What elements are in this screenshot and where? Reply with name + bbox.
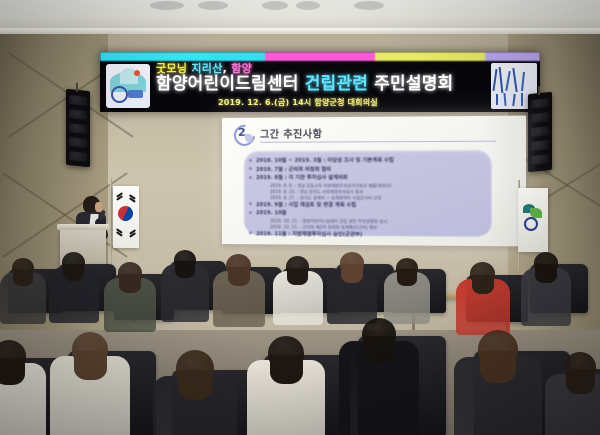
audience-head: [0, 340, 26, 372]
line-array-speaker-left: [66, 89, 90, 168]
banner-line-3: 2019. 12. 6.(금) 14시 함양군청 대회의실: [218, 97, 378, 108]
audience-head: [226, 254, 251, 277]
slide-bullet-item: 2019. 10월: [256, 209, 286, 216]
led-decorative-strip: [100, 52, 540, 61]
audience-head: [564, 352, 596, 382]
speaker-mount-rod: [76, 83, 78, 92]
slide-content-box: 2018. 10월 ~ 2019. 3월 : 타당성 조사 및 기본계획 수립2…: [244, 150, 492, 237]
audience-head: [340, 252, 364, 274]
led-segment: [155, 52, 210, 61]
audience-head: [470, 262, 495, 285]
slide-title-rule: [260, 141, 496, 143]
speaker-mount-rod: [538, 86, 540, 95]
slide-bullet-marker: [249, 211, 252, 214]
led-segment: [320, 52, 375, 61]
audience-head: [286, 256, 309, 277]
audience-head: [118, 262, 142, 284]
south-korea-flag: [113, 186, 139, 248]
county-flag: [518, 188, 548, 252]
slide-title: 그간 추진사항: [260, 125, 322, 140]
audience-head: [478, 330, 518, 368]
audience-head: [396, 258, 418, 278]
projection-screen: 2 그간 추진사항 2018. 10월 ~ 2019. 3월 : 타당성 조사 …: [222, 116, 526, 247]
slide-bullet-marker: [249, 167, 252, 170]
audience-head: [72, 332, 108, 366]
audience-head: [174, 250, 196, 270]
ceiling-light-fixture: [198, 1, 228, 10]
lectern-top: [57, 224, 109, 230]
slide-bullet-item: 2019. 7월 : 군의회 의정회 협의: [256, 165, 331, 172]
audience-head: [268, 336, 304, 370]
led-segment: [485, 52, 540, 61]
slide-number-icon: 2: [234, 125, 254, 143]
slide-bullet-marker: [249, 158, 252, 161]
banner-line-2: 함양어린이드림센터 건립관련 주민설명회: [156, 75, 453, 94]
slide-bullet-marker: [249, 231, 252, 234]
ceiling-light-fixture: [262, 1, 288, 10]
ceiling-light-fixture: [296, 1, 320, 10]
banner-text-run: 주민설명회: [368, 74, 453, 94]
line-array-speaker-right: [528, 92, 552, 173]
audience-head: [62, 252, 85, 273]
led-segment: [430, 52, 485, 61]
slide-bullet-marker: [249, 175, 252, 178]
led-segment: [375, 52, 430, 61]
banner-text-run: 건립관련: [305, 74, 368, 94]
audience-head: [12, 258, 34, 278]
flag-pole-left: [110, 178, 112, 270]
county-emblem: [523, 204, 543, 228]
led-banner: 굿모닝 지리산, 함양 함양어린이드림센터 건립관련 주민설명회 2019. 1…: [100, 52, 540, 112]
audience-head: [362, 318, 396, 350]
slide-bullet-item: 2019. 11월 : 지방재정투자심사 승인(군관부): [256, 230, 362, 238]
audience-head: [176, 350, 214, 386]
slide-bullet-marker: [249, 202, 252, 205]
slide-bullet-item: 2019. 8월 : 각 기관 투자심사 설계의뢰: [256, 174, 348, 181]
hamyang-emblem-logo: [106, 64, 150, 108]
meeting-hall-photo: 굿모닝 지리산, 함양 함양어린이드림센터 건립관련 주민설명회 2019. 1…: [0, 0, 600, 435]
led-segment: [265, 52, 320, 61]
ceiling-light-fixture: [150, 1, 184, 10]
led-segment: [210, 52, 265, 61]
slide-bullet-item: 2018. 10월 ~ 2019. 3월 : 타당성 조사 및 기본계획 수립: [256, 156, 394, 163]
slide-bullet-item: 2019. 9월 : 사업 재검토 및 변경 계획 수립: [256, 201, 356, 208]
ceiling-speaker-grille: [354, 1, 384, 10]
audience-head: [534, 252, 558, 274]
banner-text-run: 함양어린이드림센터: [156, 74, 305, 94]
taeguk-circle: [115, 203, 136, 224]
led-segment: [100, 52, 155, 61]
